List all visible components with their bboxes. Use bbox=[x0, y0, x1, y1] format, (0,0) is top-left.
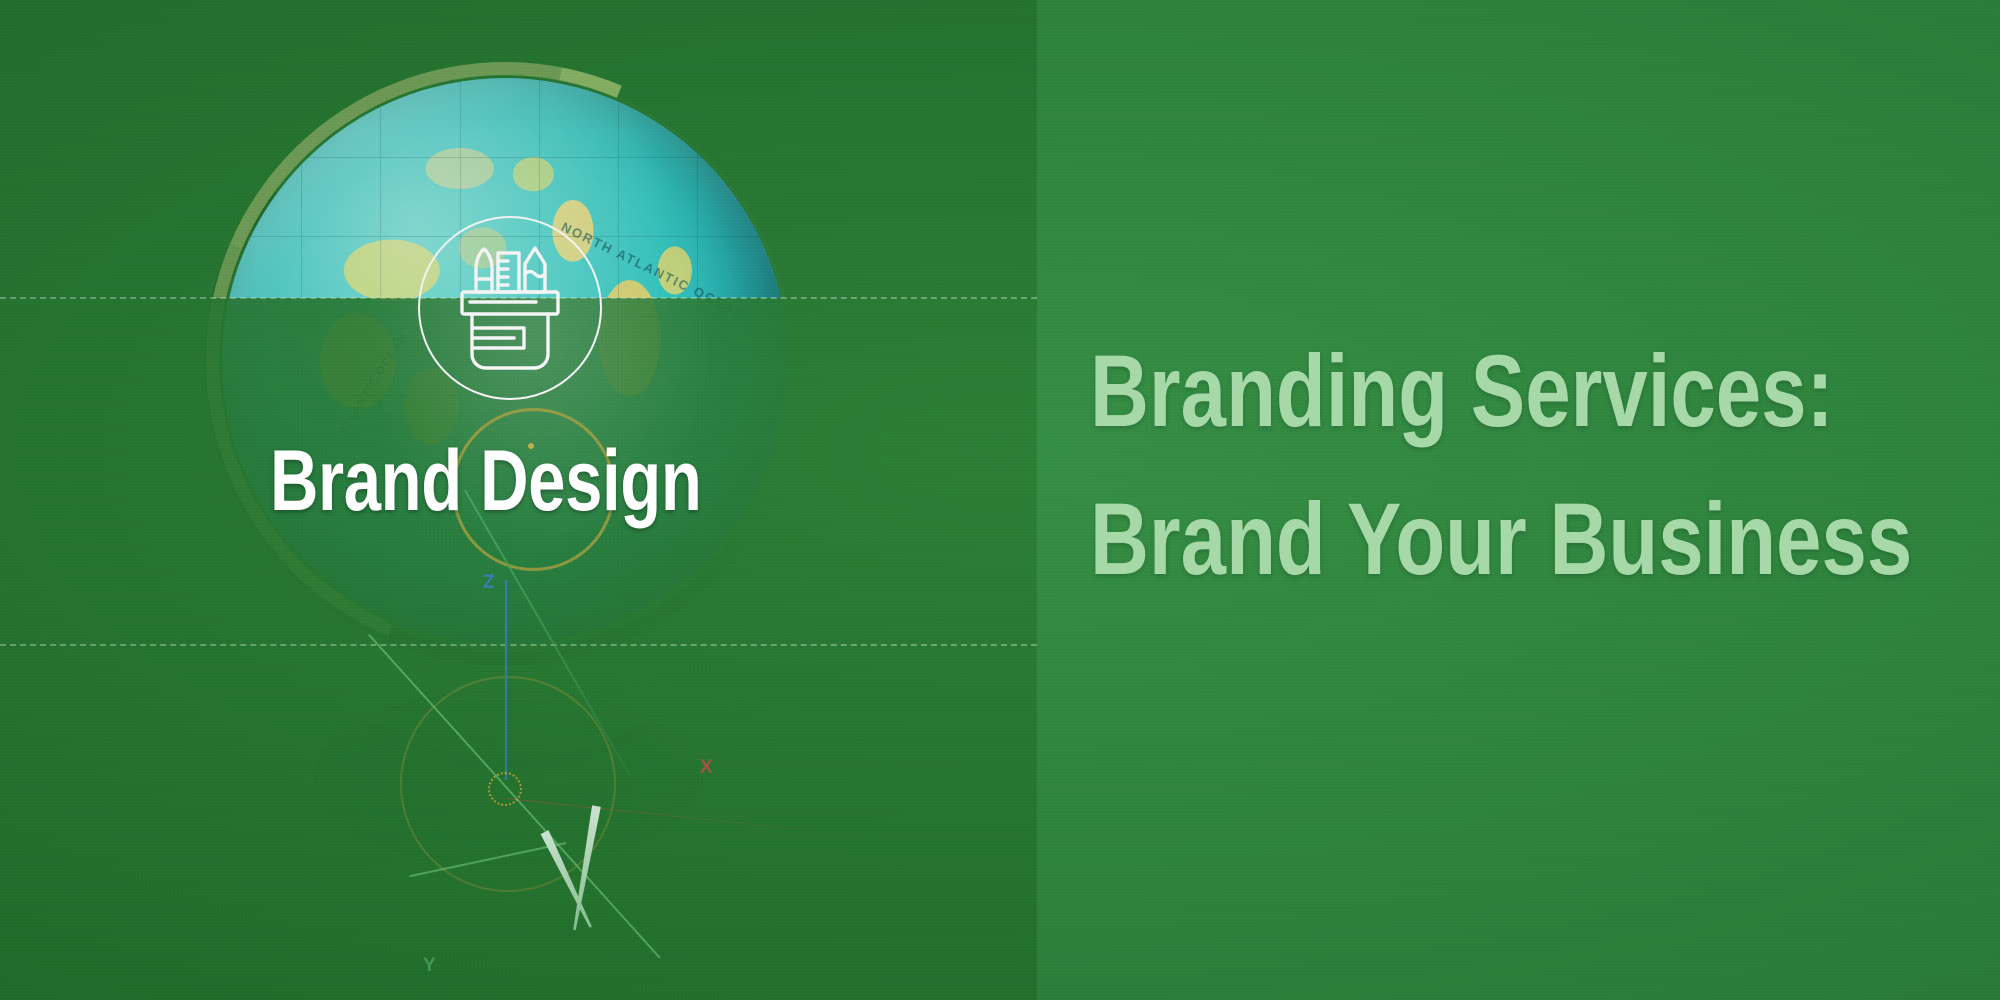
right-title-line-2: Brand Your Business bbox=[1090, 488, 1912, 590]
right-title-block: Branding Services: Brand Your Business bbox=[1090, 340, 2000, 590]
pencil-cup-icon bbox=[418, 216, 602, 400]
globe-stand-base-core bbox=[345, 712, 667, 838]
banner-canvas: NORTH ATLANTIC OCEAN ATLANTIC OCEAN Z Y … bbox=[0, 0, 2000, 1000]
right-title-line-1: Branding Services: bbox=[1090, 340, 1912, 442]
left-headline: Brand Design bbox=[270, 438, 701, 524]
